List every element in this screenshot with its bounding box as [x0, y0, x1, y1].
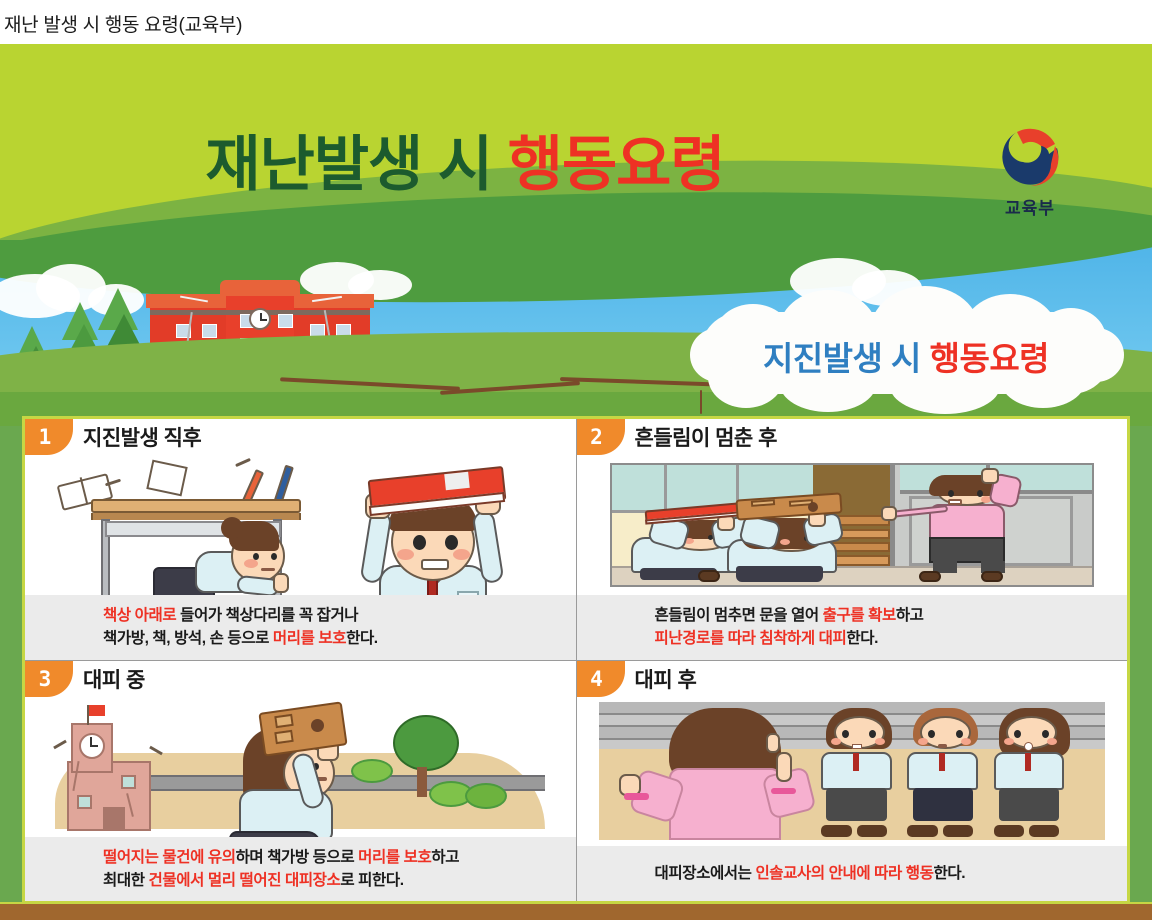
- caption-line: 최대한 건물에서 멀리 떨어진 대피장소로 피한다.: [103, 869, 576, 892]
- panel-1-header: 1 지진발생 직후: [25, 419, 576, 455]
- banner-title: 재난발생 시 행동요령: [0, 116, 930, 203]
- desk-icon: [91, 499, 301, 513]
- panel-1-number: 1: [25, 419, 65, 455]
- necktie-icon: [939, 753, 945, 771]
- panel-3-title: 대피 중: [83, 664, 145, 694]
- panel-1-badge: 1: [25, 419, 73, 455]
- panel-3-header: 3 대피 중: [25, 661, 576, 697]
- banner-title-red: 행동요령: [508, 131, 725, 198]
- panel-2-title: 흔들림이 멈춘 후: [635, 422, 777, 452]
- panel-2-header: 2 흔들림이 멈춘 후: [577, 419, 1128, 455]
- panel-4-title: 대피 후: [635, 664, 697, 694]
- clock-icon: [249, 308, 271, 330]
- caption-line: 흔들림이 멈추면 문을 열어 출구를 확보하고: [655, 604, 1128, 627]
- caption-line: 대피장소에서는 인솔교사의 안내에 따라 행동한다.: [655, 862, 1128, 885]
- bush-icon: [465, 783, 507, 809]
- panel-3-number: 3: [25, 661, 65, 697]
- panel-2-caption: 흔들림이 멈추면 문을 열어 출구를 확보하고 피난경로를 따라 침착하게 대피…: [577, 595, 1128, 660]
- ministry-logo: 교육부: [975, 124, 1085, 219]
- callout-text-red: 행동요령: [930, 340, 1049, 377]
- earthquake-callout: 지진발생 시 행동요령: [700, 312, 1112, 394]
- necktie-icon: [1025, 753, 1031, 771]
- necktie-icon: [853, 753, 859, 771]
- panel-1[interactable]: 1 지진발생 직후: [25, 419, 576, 660]
- banner-title-dark: 재난발생 시: [205, 131, 492, 198]
- panels-frame: 1 지진발생 직후: [22, 416, 1130, 904]
- taegeuk-logo-icon: [997, 124, 1063, 190]
- assembly-ground-background: [599, 702, 1105, 839]
- caption-line: 피난경로를 따라 침착하게 대피한다.: [655, 627, 1128, 650]
- caption-line: 떨어지는 물건에 유의하며 책가방 등으로 머리를 보호하고: [103, 846, 576, 869]
- panel-3-badge: 3: [25, 661, 73, 697]
- teacher-skirt: [929, 537, 1006, 563]
- callout-text: 지진발생 시 행동요령: [700, 332, 1112, 380]
- panel-2-illustration: [577, 455, 1128, 595]
- caption-line: 책상 아래로 들어가 책상다리를 꼭 잡거나: [103, 604, 576, 627]
- footer-strip: [0, 904, 1152, 920]
- panel-2-badge: 2: [577, 419, 625, 455]
- poster-banner: 재난발생 시 행동요령 교육부: [0, 44, 1152, 256]
- panel-2[interactable]: 2 흔들림이 멈춘 후: [577, 419, 1128, 660]
- panel-4-header: 4 대피 후: [577, 661, 1128, 697]
- classroom-background: [610, 463, 1094, 586]
- ministry-logo-label: 교육부: [975, 194, 1085, 219]
- panel-3-illustration: [25, 697, 576, 837]
- caption-line: 책가방, 책, 방석, 손 등으로 머리를 보호한다.: [103, 627, 576, 650]
- poster-canvas: 재난발생 시 행동요령 교육부: [0, 44, 1152, 920]
- callout-text-blue: 지진발생 시: [763, 340, 921, 377]
- panel-4-caption: 대피장소에서는 인솔교사의 안내에 따라 행동한다.: [577, 846, 1128, 901]
- panel-2-number: 2: [577, 419, 617, 455]
- panel-4-illustration: [577, 697, 1128, 846]
- panels-grid: 1 지진발생 직후: [25, 419, 1127, 901]
- bush-icon: [351, 759, 393, 783]
- panel-3-caption: 떨어지는 물건에 유의하며 책가방 등으로 머리를 보호하고 최대한 건물에서 …: [25, 837, 576, 902]
- panel-4[interactable]: 4 대피 후: [577, 661, 1128, 902]
- panel-1-caption: 책상 아래로 들어가 책상다리를 꼭 잡거나 책가방, 책, 방석, 손 등으로…: [25, 595, 576, 660]
- pointing-finger-icon: [776, 752, 792, 782]
- panel-4-badge: 4: [577, 661, 625, 697]
- flying-paper-icon: [146, 460, 187, 497]
- girl-skirt: [229, 831, 321, 837]
- tree-icon: [393, 715, 459, 771]
- panel-3[interactable]: 3 대피 중: [25, 661, 576, 902]
- panel-1-title: 지진발생 직후: [83, 422, 201, 452]
- panel-1-illustration: [25, 455, 576, 595]
- page-title: 재난 발생 시 행동 요령(교육부): [0, 0, 1152, 44]
- panel-4-number: 4: [577, 661, 617, 697]
